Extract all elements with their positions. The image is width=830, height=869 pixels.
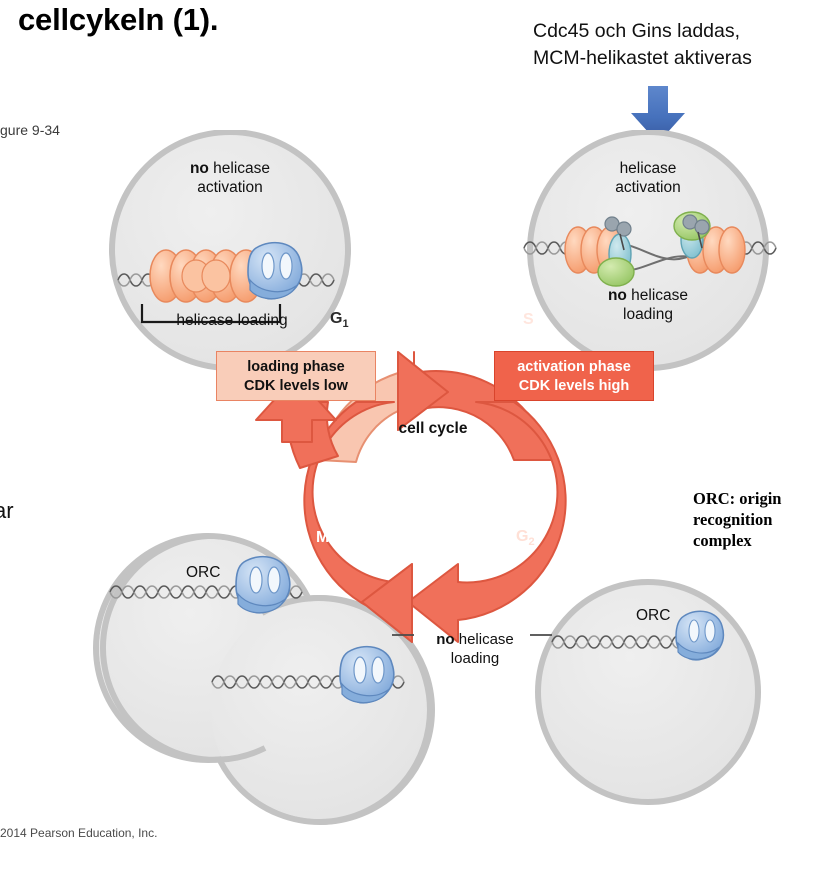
annotation-line-2: MCM-helikastet aktiveras: [533, 45, 752, 72]
orc-complex-bottom-left-b: [340, 647, 394, 703]
caption-helicase-activation: helicase activation: [540, 159, 756, 197]
cap-ur-line2: activation: [540, 178, 756, 197]
cap-mid-line2: loading: [400, 649, 550, 668]
phase-label-s: S: [523, 311, 534, 329]
activation-phase-box: activation phase CDK levels high: [494, 351, 654, 401]
cell-cycle-center-label: cell cycle: [383, 420, 483, 438]
phase-g1-sub: 1: [342, 318, 348, 330]
phase-g2-sub: 2: [528, 536, 534, 548]
phase-m-letter: M: [316, 529, 329, 546]
cap-ul-rest: helicase: [209, 160, 270, 177]
phase-label-g2: G2: [516, 528, 535, 548]
phase-g1-letter: G: [330, 310, 342, 327]
orc-complex-bottom-left-a: [236, 557, 290, 613]
cap-ur2-rest: helicase: [627, 287, 688, 304]
cap-ur-line1: helicase: [540, 159, 756, 178]
orc-complex-upper-left: [248, 243, 302, 299]
cap-ur2-line2: loading: [540, 305, 756, 324]
caption-no-helicase-activation: no helicase activation: [122, 159, 338, 197]
label-helicase-loading-bracket: helicase loading: [142, 311, 322, 330]
phase-g2-letter: G: [516, 528, 528, 545]
annotation-cdc45-gins: Cdc45 och Gins laddas, MCM-helikastet ak…: [533, 18, 752, 72]
cell-cycle-diagram: [0, 130, 830, 869]
orc-label-bottom-right: ORC: [636, 607, 670, 625]
cap-ul-line2: activation: [122, 178, 338, 197]
caption-no-helicase-loading-middle: no helicase loading: [400, 630, 550, 668]
page-title: cellcykeln (1).: [18, 2, 218, 38]
mcm-helicase-double-hexamer: [150, 250, 262, 302]
activation-phase-line-1: activation phase: [495, 358, 653, 377]
cap-mid-bold: no: [436, 631, 454, 648]
phase-label-g1: G1: [330, 310, 349, 330]
cycle-arrow-g2: [408, 402, 566, 642]
annotation-line-1: Cdc45 och Gins laddas,: [533, 18, 752, 45]
cap-mid-rest: helicase: [455, 631, 514, 648]
cap-ul-bold: no: [190, 160, 209, 177]
caption-no-helicase-loading-upper-right: no helicase loading: [540, 286, 756, 324]
loading-phase-line-1: loading phase: [217, 358, 375, 377]
activation-phase-line-2: CDK levels high: [495, 377, 653, 396]
loading-phase-box: loading phase CDK levels low: [216, 351, 376, 401]
orc-label-bottom-left: ORC: [186, 564, 220, 582]
loading-phase-line-2: CDK levels low: [217, 377, 375, 396]
cap-ur2-bold: no: [608, 287, 627, 304]
phase-s-letter: S: [523, 311, 534, 328]
orc-complex-bottom-right: [676, 611, 723, 660]
phase-label-m: M: [316, 529, 329, 547]
